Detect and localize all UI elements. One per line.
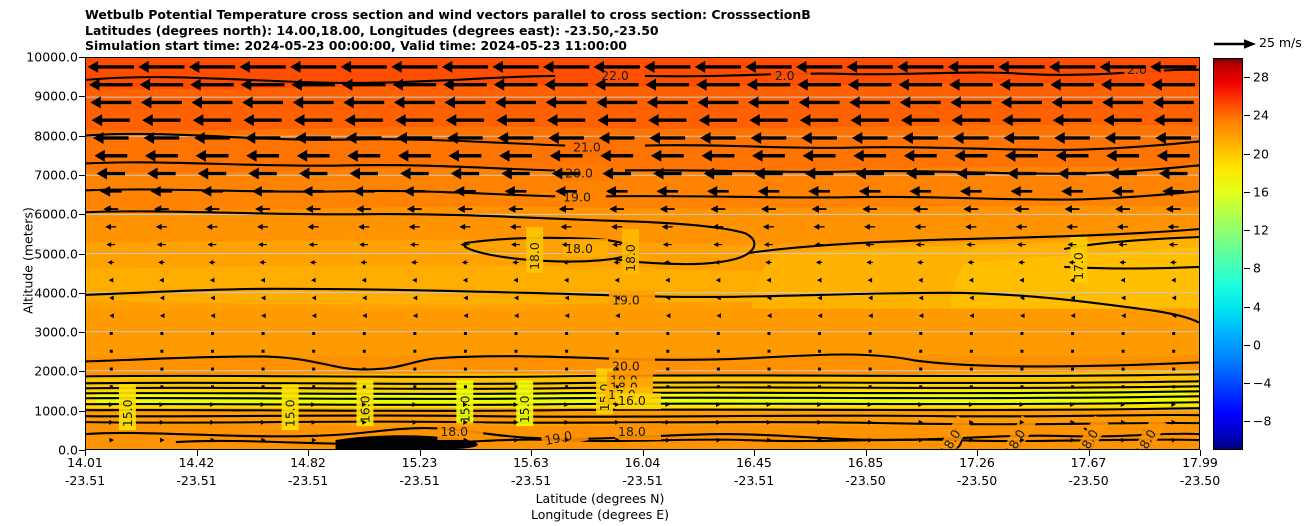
- colorbar-tick-label: 0: [1253, 337, 1261, 352]
- wind-vector-key: 25 m/s: [1213, 33, 1311, 55]
- x-tick-label-latitude: 16.45: [736, 455, 772, 470]
- x-tick-label-longitude: -23.50: [1068, 473, 1108, 488]
- colorbar-tick-mark: [1244, 154, 1250, 155]
- x-tick-label-longitude: -23.50: [957, 473, 997, 488]
- wind-key-arrow-icon: [1213, 36, 1257, 52]
- colorbar-tick-mark: [1244, 345, 1250, 346]
- colorbar-tick-mark: [1244, 268, 1250, 269]
- x-tick-label-longitude: -23.51: [176, 473, 216, 488]
- colorbar-tick-label: 16: [1253, 184, 1269, 199]
- x-tick-label-latitude: 17.99: [1182, 455, 1218, 470]
- x-tick-label-longitude: -23.51: [288, 473, 328, 488]
- x-tick-label-latitude: 16.04: [625, 455, 661, 470]
- colorbar-tick-mark: [1244, 230, 1250, 231]
- x-tick-label-latitude: 14.01: [67, 455, 103, 470]
- colorbar-tick-label: −4: [1253, 376, 1271, 391]
- x-tick-label-longitude: -23.51: [734, 473, 774, 488]
- x-axis: 14.01-23.5114.42-23.5114.82-23.5115.23-2…: [0, 0, 1311, 526]
- wind-key-label: 25 m/s: [1259, 35, 1302, 50]
- colorbar-tick-mark: [1244, 77, 1250, 78]
- x-tick-label-latitude: 17.26: [959, 455, 995, 470]
- x-axis-label-latitude: Latitude (degrees N): [0, 491, 1200, 506]
- colorbar-tick-mark: [1244, 383, 1250, 384]
- colorbar-tick-label: 8: [1253, 261, 1261, 276]
- colorbar-tick-label: 24: [1253, 108, 1269, 123]
- colorbar-tick-mark: [1244, 115, 1250, 116]
- x-axis-label-longitude: Longitude (degrees E): [0, 507, 1200, 522]
- x-tick-label-longitude: -23.51: [622, 473, 662, 488]
- colorbar-tick-mark: [1244, 192, 1250, 193]
- colorbar-tick-label: 4: [1253, 299, 1261, 314]
- x-tick-label-longitude: -23.50: [1180, 473, 1220, 488]
- x-tick-label-longitude: -23.51: [511, 473, 551, 488]
- x-tick-label-latitude: 15.63: [513, 455, 549, 470]
- x-tick-label-longitude: -23.51: [65, 473, 105, 488]
- figure-root: Wetbulb Potential Temperature cross sect…: [0, 0, 1311, 526]
- x-tick-label-latitude: 14.82: [290, 455, 326, 470]
- colorbar-tick-label: −8: [1253, 414, 1271, 429]
- colorbar: [1213, 58, 1243, 450]
- colorbar-tick-label: 12: [1253, 223, 1269, 238]
- colorbar-tick-mark: [1244, 307, 1250, 308]
- x-tick-label-longitude: -23.50: [845, 473, 885, 488]
- colorbar-tick-mark: [1244, 421, 1250, 422]
- x-tick-label-longitude: -23.51: [399, 473, 439, 488]
- x-tick-label-latitude: 14.42: [179, 455, 215, 470]
- x-tick-label-latitude: 16.85: [848, 455, 884, 470]
- colorbar-tick-label: 20: [1253, 146, 1269, 161]
- x-tick-label-latitude: 17.67: [1071, 455, 1107, 470]
- colorbar-tick-label: 28: [1253, 70, 1269, 85]
- x-tick-label-latitude: 15.23: [402, 455, 438, 470]
